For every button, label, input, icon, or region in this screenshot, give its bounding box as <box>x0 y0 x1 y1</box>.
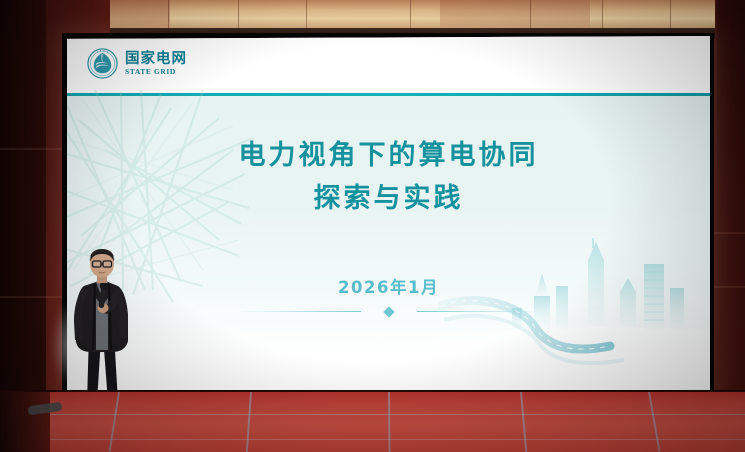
conference-stage-scene: 国家电网 STATE GRID <box>0 0 745 452</box>
divider-line-right <box>417 311 539 312</box>
stage-floor-shadow <box>0 392 50 452</box>
divider-line-left <box>239 311 361 312</box>
decorative-divider <box>239 307 539 317</box>
stage-floor <box>0 392 745 452</box>
divider-diamond-icon <box>383 306 394 317</box>
brand-name-cn: 国家电网 <box>125 52 187 67</box>
slide-title: 电力视角下的算电协同 探索与实践 <box>67 142 710 213</box>
title-line-2: 探索与实践 <box>67 185 710 213</box>
slide-date: 2026年1月 <box>67 274 710 298</box>
slide-body: 电力视角下的算电协同 探索与实践 2026年1月 <box>67 96 710 393</box>
slide-date-block: 2026年1月 <box>67 274 710 317</box>
brand-text: 国家电网 STATE GRID <box>125 52 187 76</box>
brand-name-en: STATE GRID <box>125 68 187 76</box>
state-grid-logo: 国家电网 STATE GRID <box>87 48 187 79</box>
title-line-1: 电力视角下的算电协同 <box>67 142 710 170</box>
left-wall-shadow <box>0 0 46 452</box>
state-grid-emblem-icon <box>87 48 118 79</box>
slide-header: 国家电网 STATE GRID <box>67 36 710 93</box>
presentation-slide: 国家电网 STATE GRID <box>67 36 710 392</box>
